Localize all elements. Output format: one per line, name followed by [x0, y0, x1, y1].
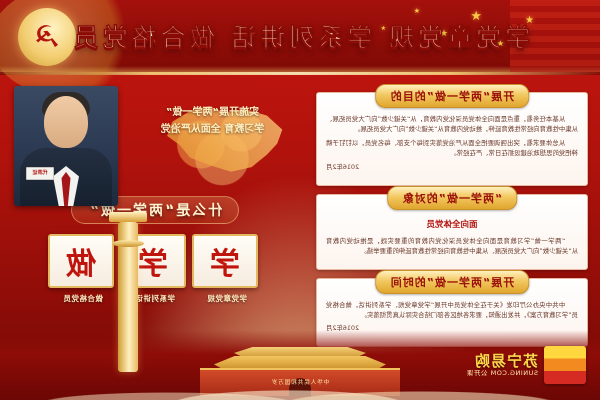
- map-caption-line2: 学习教育 全面从严治党: [125, 121, 300, 138]
- left-column: 开展“两学一做”的目的 从基本任务看，重点是面向全体党员深化党内教育，从“关键少…: [316, 92, 588, 355]
- tile-char: 学: [192, 234, 258, 288]
- logo-title: 苏宁易购: [467, 353, 538, 370]
- right-column: 实施开展“两学一做” 学习教育 全面从严治党 代表证 什么是“两学一做” 学 学…: [10, 86, 300, 304]
- card-paragraph: 从基本任务看，重点是面向全体党员深化党内教育，从“关键少数”向广大党员拓展、从集…: [326, 115, 578, 135]
- card-paragraph: “两学一做”学习教育是面向全体党员深化党内教育的重要实践，是推动党内教育从“关键…: [326, 237, 578, 257]
- map-and-portrait: 实施开展“两学一做” 学习教育 全面从严治党 代表证: [10, 86, 300, 194]
- leader-portrait: 代表证: [14, 86, 118, 206]
- card-date: 2016年2月: [326, 163, 578, 173]
- tile-zuo-hegedangyuan: 做 做合格党员: [52, 234, 114, 304]
- map-caption-line1: 实施开展“两学一做”: [125, 104, 300, 121]
- card-paragraph: 从总体要求看，突出强调要把全面从严治党落实到每个支部、每名党员，以钉钉子精神把党…: [326, 139, 578, 159]
- card-purpose: 开展“两学一做”的目的 从基本任务看，重点是面向全体党员深化党内教育，从“关键少…: [316, 92, 588, 186]
- logo-mark-icon: [544, 346, 586, 384]
- card-audience: “两学一做”的对象 面向全体党员 “两学一做”学习教育是面向全体党员深化党内教育…: [316, 194, 588, 270]
- delegate-badge: 代表证: [26, 167, 54, 180]
- tile-caption: 做合格党员: [52, 293, 114, 304]
- card-title: 开展“两学一做”的目的: [375, 84, 529, 108]
- tile-xue-dangzhang: 学 学党章党规: [196, 234, 258, 304]
- star-icon: ★: [414, 8, 420, 15]
- card-title: 开展“两学一做”的时间: [375, 270, 529, 294]
- card-paragraph: 中共中央办公厅印发《关于在全体党员中开展“学党章党规、学系列讲话，做合格党员”学…: [326, 301, 578, 321]
- page-title: 学党章党规 学系列讲话 做合格党员: [0, 18, 600, 54]
- brand-logo: 苏宁易购 SUNING.COM 公开课: [456, 344, 586, 386]
- logo-subtitle: SUNING.COM 公开课: [467, 370, 538, 377]
- poster-root: ★ ★ ★ ★ ★ ★ ☭ 学党章党规 学系列讲话 做合格党员 开展“两学一做”…: [0, 0, 600, 400]
- huabiao-column-icon: [118, 222, 138, 372]
- tile-caption: 学党章党规: [196, 293, 258, 304]
- card-title: “两学一做”的对象: [387, 186, 517, 210]
- card-subtitle: 面向全体党员: [326, 219, 578, 232]
- tile-char: 做: [48, 234, 114, 288]
- logo-text: 苏宁易购 SUNING.COM 公开课: [467, 353, 538, 378]
- three-tiles: 学 学党章党规 学 学系列讲话 做 做合格党员: [10, 234, 300, 304]
- map-caption: 实施开展“两学一做” 学习教育 全面从严治党: [125, 104, 300, 138]
- portrait-head: [44, 96, 88, 148]
